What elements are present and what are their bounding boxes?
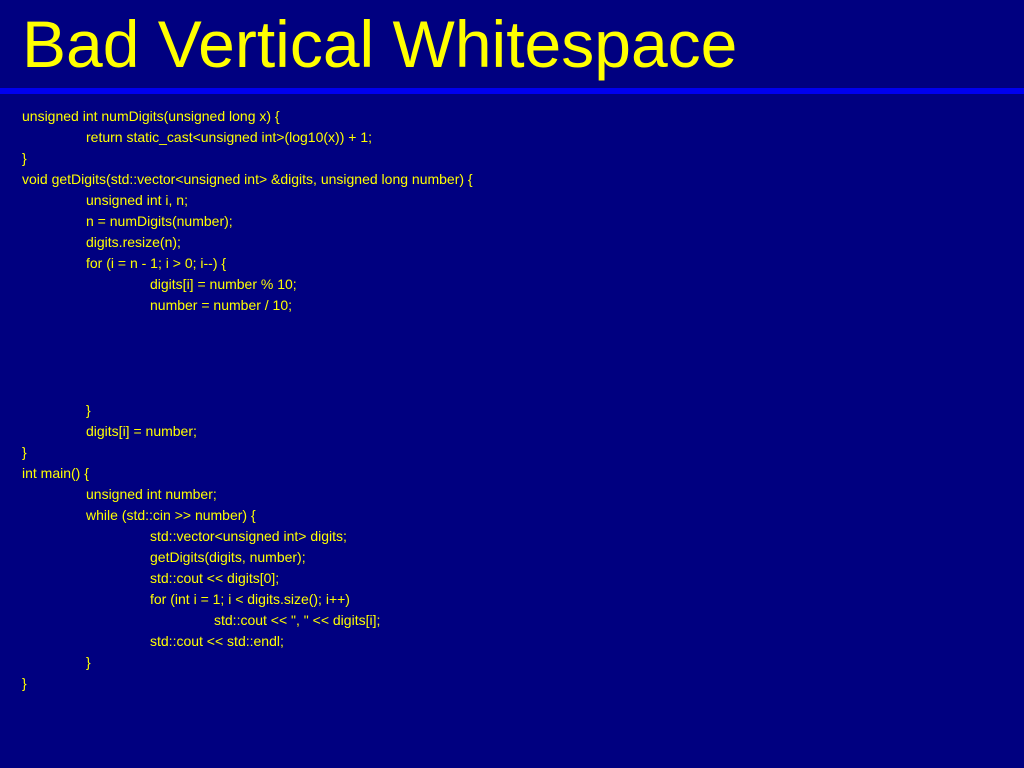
code-line: std::vector<unsigned int> digits; [0, 526, 1024, 547]
code-line-blank [0, 358, 1024, 379]
code-line: } [0, 673, 1024, 694]
code-line: n = numDigits(number); [0, 211, 1024, 232]
code-line: std::cout << digits[0]; [0, 568, 1024, 589]
title-divider-rule [0, 88, 1024, 94]
code-line: } [0, 442, 1024, 463]
slide-title: Bad Vertical Whitespace [22, 4, 737, 84]
code-line-blank [0, 316, 1024, 337]
code-line: digits[i] = number % 10; [0, 274, 1024, 295]
code-line: } [0, 652, 1024, 673]
code-line: return static_cast<unsigned int>(log10(x… [0, 127, 1024, 148]
code-line: unsigned int numDigits(unsigned long x) … [0, 106, 1024, 127]
code-line: int main() { [0, 463, 1024, 484]
code-line: std::cout << std::endl; [0, 631, 1024, 652]
code-line: void getDigits(std::vector<unsigned int>… [0, 169, 1024, 190]
code-line: while (std::cin >> number) { [0, 505, 1024, 526]
code-line: unsigned int number; [0, 484, 1024, 505]
code-line: digits[i] = number; [0, 421, 1024, 442]
code-listing: unsigned int numDigits(unsigned long x) … [0, 106, 1024, 694]
code-line: unsigned int i, n; [0, 190, 1024, 211]
code-line-blank [0, 337, 1024, 358]
code-line: std::cout << ", " << digits[i]; [0, 610, 1024, 631]
code-line-blank [0, 379, 1024, 400]
code-line: digits.resize(n); [0, 232, 1024, 253]
code-line: } [0, 400, 1024, 421]
code-line: for (int i = 1; i < digits.size(); i++) [0, 589, 1024, 610]
code-line: number = number / 10; [0, 295, 1024, 316]
code-line: for (i = n - 1; i > 0; i--) { [0, 253, 1024, 274]
code-line: } [0, 148, 1024, 169]
code-line: getDigits(digits, number); [0, 547, 1024, 568]
